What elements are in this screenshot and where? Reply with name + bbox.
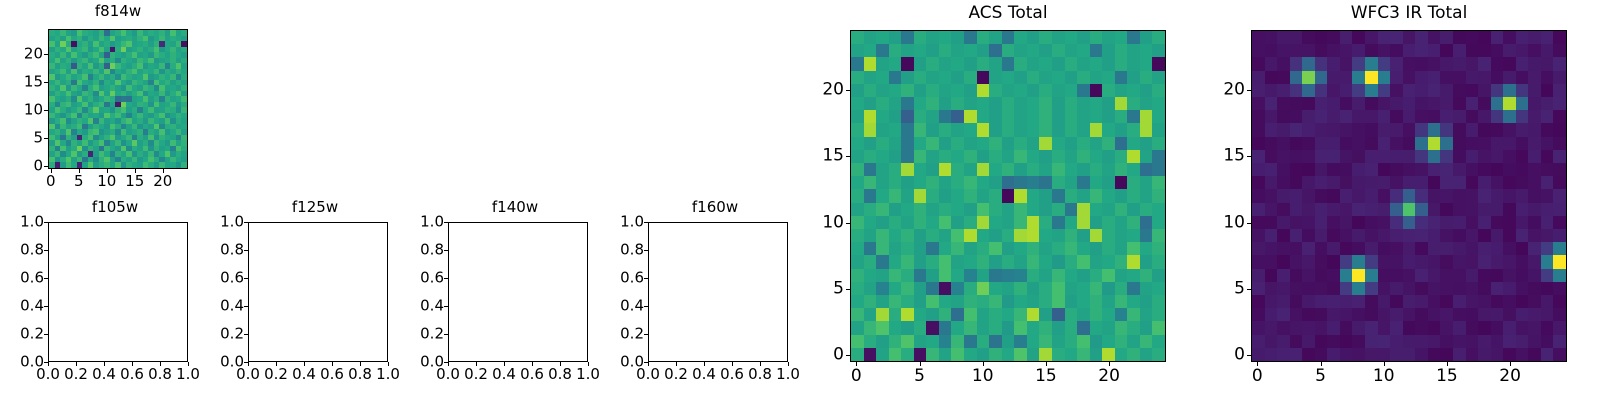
x-tick-label: 10: [1373, 368, 1395, 385]
y-tick-mark: [44, 82, 48, 83]
panel-title-f814w: f814w: [0, 2, 236, 20]
y-tick-mark: [846, 289, 850, 290]
x-tick-label: 0.8: [748, 367, 772, 382]
x-tick-label: 0.8: [548, 367, 572, 382]
axes-f105w: [48, 222, 188, 362]
y-tick-label: 5: [1199, 280, 1245, 297]
x-tick-label: 1.0: [176, 367, 200, 382]
y-tick-mark: [644, 306, 648, 307]
axes-f814w: [48, 29, 188, 169]
y-tick-mark: [644, 278, 648, 279]
y-tick-mark: [44, 110, 48, 111]
x-tick-label: 0: [46, 174, 56, 189]
y-tick-label: 0.2: [598, 327, 644, 342]
y-tick-mark: [846, 90, 850, 91]
panel-wfc3-ir-total: WFC3 IR Total 0510152005101520: [1200, 0, 1600, 400]
y-tick-mark: [1247, 355, 1251, 356]
x-tick-label: 0.8: [348, 367, 372, 382]
y-tick-label: 1.0: [0, 215, 44, 230]
y-tick-label: 0.2: [398, 327, 444, 342]
panel-f140w: f140w 0.00.20.40.60.81.00.00.20.40.60.81…: [400, 190, 600, 400]
x-tick-label: 5: [1315, 368, 1326, 385]
y-tick-mark: [846, 223, 850, 224]
y-tick-label: 0.8: [598, 243, 644, 258]
x-tick-label: 0.6: [520, 367, 544, 382]
y-tick-label: 1.0: [198, 215, 244, 230]
y-tick-label: 0.6: [0, 271, 44, 286]
y-tick-label: 0.4: [398, 299, 444, 314]
x-tick-label: 0.4: [692, 367, 716, 382]
axes-f140w: [448, 222, 588, 362]
x-tick-label: 5: [914, 368, 925, 385]
x-tick-label: 0.6: [120, 367, 144, 382]
heatmap-wfc3-ir-total: [1252, 31, 1566, 361]
y-tick-mark: [44, 278, 48, 279]
y-tick-mark: [444, 334, 448, 335]
y-tick-mark: [846, 355, 850, 356]
y-tick-mark: [644, 222, 648, 223]
y-tick-mark: [44, 166, 48, 167]
x-tick-label: 1.0: [376, 367, 400, 382]
heatmap-f814w: [49, 30, 187, 168]
figure-canvas: f814w 0510152005101520 f105w 0.00.20.40.…: [0, 0, 1600, 400]
heatmap-acs-total: [851, 31, 1165, 361]
y-tick-label: 0.8: [398, 243, 444, 258]
y-tick-label: 0.8: [198, 243, 244, 258]
y-tick-mark: [644, 334, 648, 335]
panel-f814w: f814w 0510152005101520: [0, 0, 200, 190]
x-tick-label: 15: [125, 174, 144, 189]
x-tick-label: 20: [1499, 368, 1521, 385]
y-tick-mark: [44, 334, 48, 335]
y-tick-mark: [444, 250, 448, 251]
y-tick-label: 0.4: [598, 299, 644, 314]
axes-acs-total: [850, 30, 1166, 362]
y-tick-mark: [644, 250, 648, 251]
y-tick-mark: [244, 278, 248, 279]
x-tick-label: 0.2: [264, 367, 288, 382]
y-tick-mark: [244, 222, 248, 223]
y-tick-mark: [644, 362, 648, 363]
y-tick-mark: [44, 54, 48, 55]
y-tick-label: 20: [1199, 81, 1245, 98]
x-tick-label: 0.4: [92, 367, 116, 382]
y-tick-mark: [444, 306, 448, 307]
y-tick-label: 0: [798, 347, 844, 364]
y-tick-label: 0.0: [198, 355, 244, 370]
x-tick-label: 0.6: [320, 367, 344, 382]
y-tick-mark: [1247, 289, 1251, 290]
x-tick-label: 0: [1252, 368, 1263, 385]
axes-f160w: [648, 222, 788, 362]
y-tick-label: 10: [0, 103, 43, 118]
axes-f125w: [248, 222, 388, 362]
y-tick-mark: [444, 222, 448, 223]
x-tick-label: 15: [1436, 368, 1458, 385]
x-tick-label: 15: [1035, 368, 1057, 385]
y-tick-label: 0: [1199, 347, 1245, 364]
y-tick-mark: [244, 250, 248, 251]
y-tick-mark: [44, 250, 48, 251]
x-tick-label: 1.0: [576, 367, 600, 382]
x-tick-label: 0.4: [292, 367, 316, 382]
y-tick-label: 20: [0, 47, 43, 62]
x-tick-label: 0.2: [464, 367, 488, 382]
x-tick-label: 20: [153, 174, 172, 189]
y-tick-label: 15: [1199, 148, 1245, 165]
y-tick-label: 0.6: [398, 271, 444, 286]
y-tick-label: 10: [798, 214, 844, 231]
y-tick-mark: [244, 306, 248, 307]
x-tick-label: 0.6: [720, 367, 744, 382]
y-tick-mark: [44, 306, 48, 307]
y-tick-label: 15: [798, 148, 844, 165]
y-tick-mark: [1247, 156, 1251, 157]
y-tick-label: 0.0: [0, 355, 44, 370]
axes-wfc3-ir-total: [1251, 30, 1567, 362]
y-tick-mark: [846, 156, 850, 157]
panel-f125w: f125w 0.00.20.40.60.81.00.00.20.40.60.81…: [200, 190, 400, 400]
y-tick-label: 0.4: [198, 299, 244, 314]
panel-title-wfc3-ir-total: WFC3 IR Total: [1251, 3, 1567, 23]
y-tick-label: 15: [0, 75, 43, 90]
y-tick-mark: [244, 362, 248, 363]
x-tick-label: 10: [97, 174, 116, 189]
y-tick-mark: [44, 222, 48, 223]
x-tick-label: 0.2: [64, 367, 88, 382]
y-tick-label: 0.6: [198, 271, 244, 286]
x-tick-label: 10: [972, 368, 994, 385]
x-tick-label: 0: [851, 368, 862, 385]
x-tick-label: 0.4: [492, 367, 516, 382]
x-tick-label: 1.0: [776, 367, 800, 382]
y-tick-label: 1.0: [598, 215, 644, 230]
y-tick-label: 0.0: [598, 355, 644, 370]
panel-f105w: f105w 0.00.20.40.60.81.00.00.20.40.60.81…: [0, 190, 200, 400]
y-tick-label: 0.0: [398, 355, 444, 370]
panel-title-acs-total: ACS Total: [850, 3, 1166, 23]
y-tick-mark: [244, 334, 248, 335]
y-tick-label: 0.8: [0, 243, 44, 258]
y-tick-label: 0.6: [598, 271, 644, 286]
x-tick-label: 20: [1098, 368, 1120, 385]
y-tick-label: 20: [798, 81, 844, 98]
panel-acs-total: ACS Total 0510152005101520: [800, 0, 1200, 400]
y-tick-label: 0: [0, 159, 43, 174]
y-tick-label: 5: [798, 280, 844, 297]
y-tick-mark: [44, 138, 48, 139]
y-tick-mark: [1247, 90, 1251, 91]
x-tick-label: 5: [74, 174, 84, 189]
y-tick-mark: [44, 362, 48, 363]
y-tick-label: 10: [1199, 214, 1245, 231]
panel-f160w: f160w 0.00.20.40.60.81.00.00.20.40.60.81…: [600, 190, 800, 400]
y-tick-mark: [1247, 223, 1251, 224]
y-tick-mark: [444, 278, 448, 279]
y-tick-label: 5: [0, 131, 43, 146]
y-tick-label: 0.4: [0, 299, 44, 314]
y-tick-label: 1.0: [398, 215, 444, 230]
y-tick-label: 0.2: [198, 327, 244, 342]
y-tick-label: 0.2: [0, 327, 44, 342]
y-tick-mark: [444, 362, 448, 363]
x-tick-label: 0.2: [664, 367, 688, 382]
x-tick-label: 0.8: [148, 367, 172, 382]
